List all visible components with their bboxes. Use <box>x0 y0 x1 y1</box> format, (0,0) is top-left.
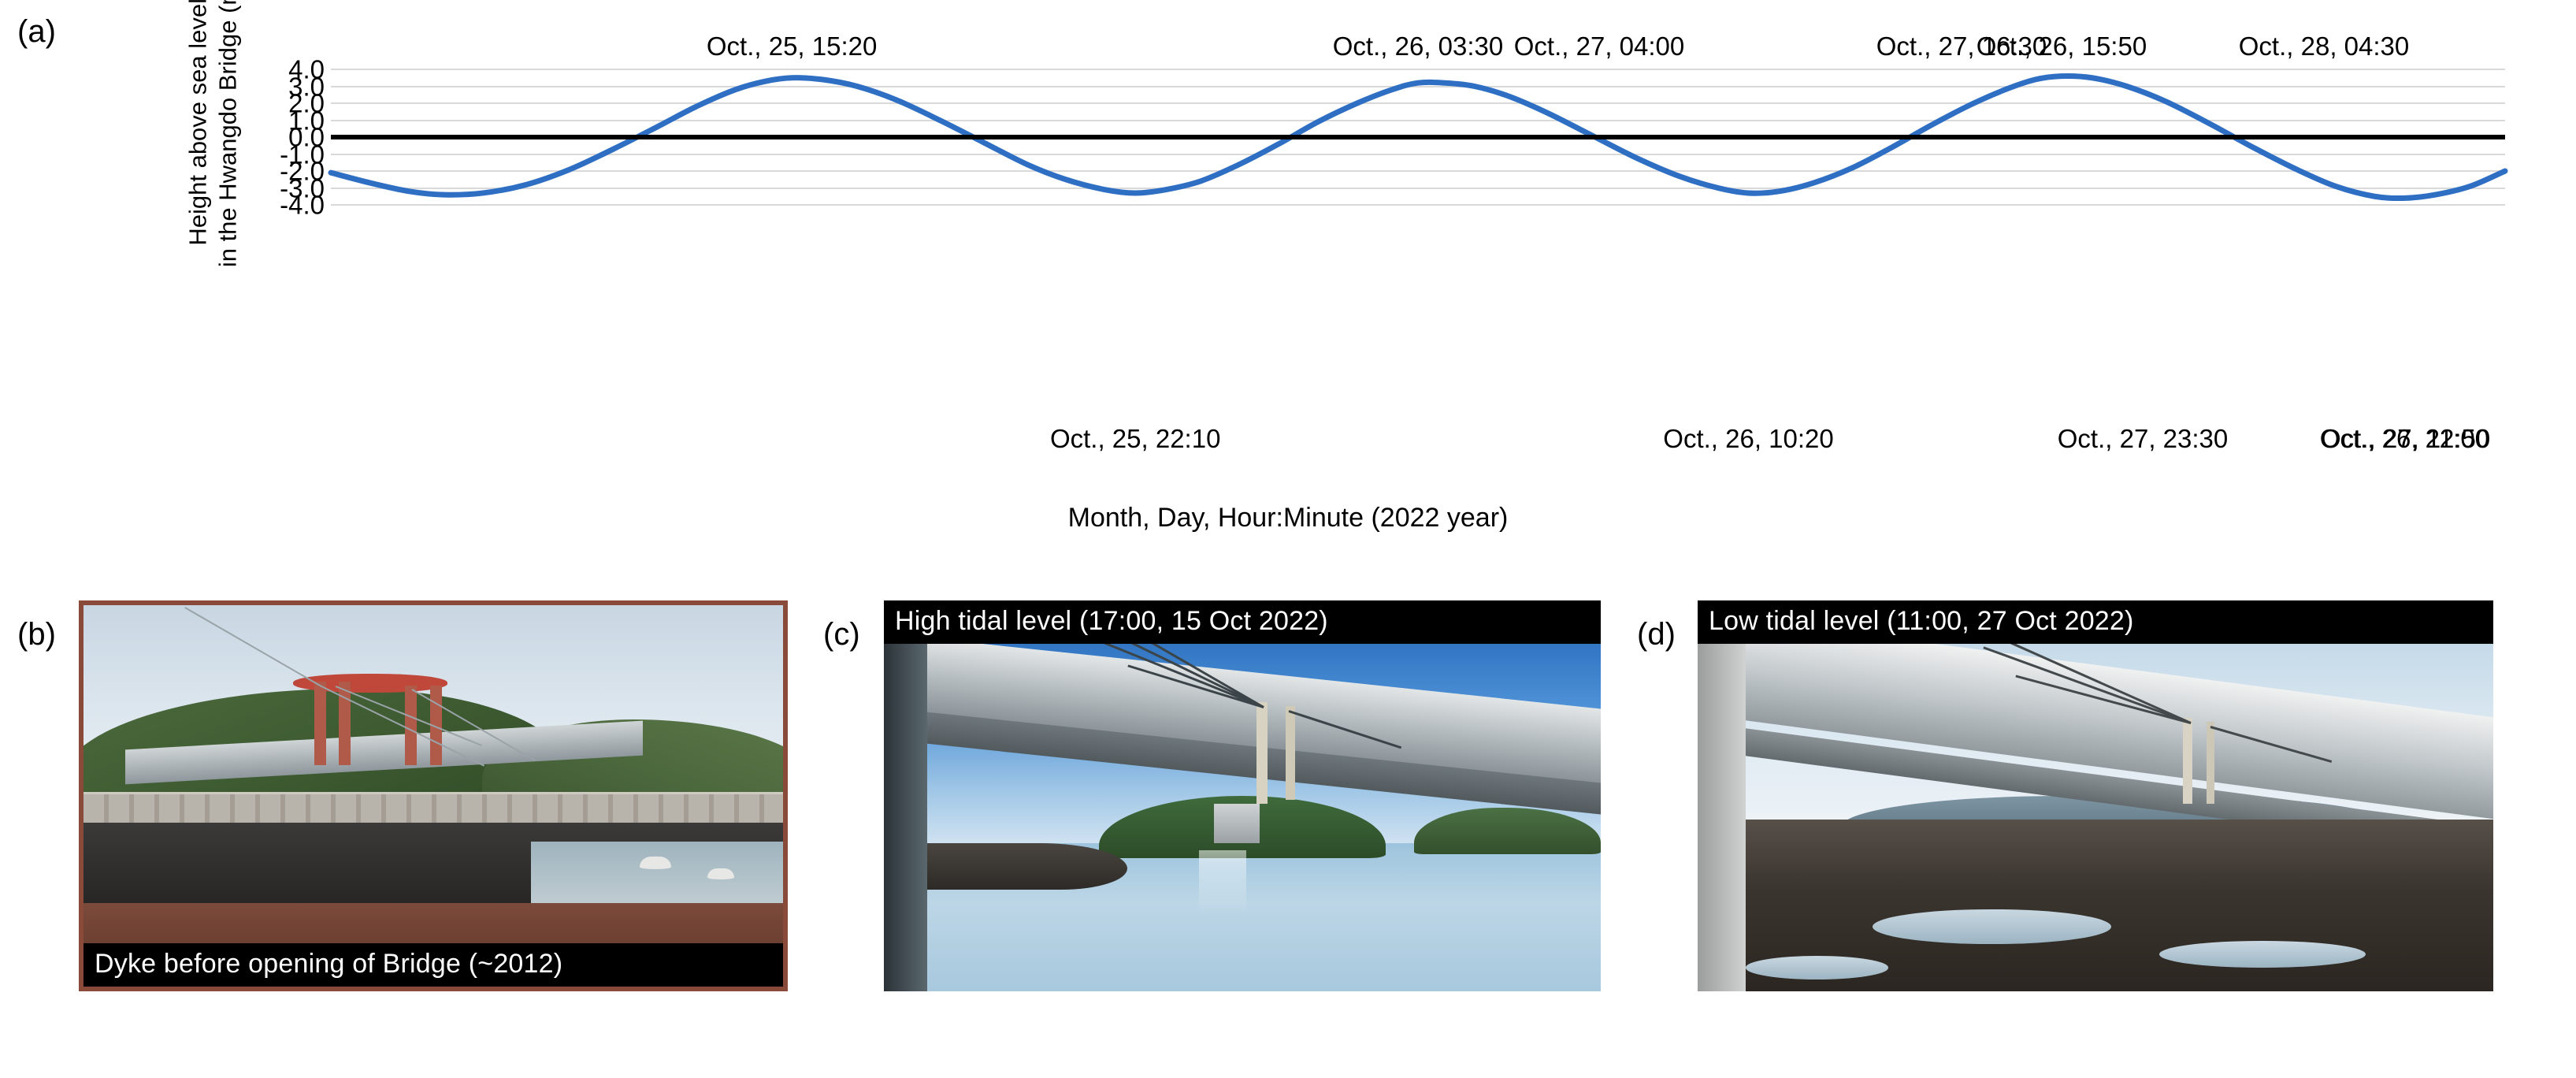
photo-d-caption: Low tidal level (11:00, 27 Oct 2022) <box>1698 600 2493 644</box>
bridge-tower <box>2183 718 2192 804</box>
bridge-column-left <box>1698 600 1746 991</box>
high-tide-photo: High tidal level (17:00, 15 Oct 2022) <box>884 600 1601 991</box>
tidal-puddle <box>1746 956 1889 979</box>
plot-area <box>331 69 2505 205</box>
dyke-photo: Dyke before opening of Bridge (~2012) <box>79 600 788 991</box>
bridge-tower <box>1256 702 1268 804</box>
photo-b-caption: Dyke before opening of Bridge (~2012) <box>84 943 783 987</box>
peak-label-4: Oct., 27, 04:00 <box>1514 33 1684 59</box>
panel-letter-d: (d) <box>1637 619 1676 650</box>
zero-level-line <box>331 135 2505 139</box>
panel-letter-c: (c) <box>823 619 860 650</box>
panel-letter-a: (a) <box>17 16 56 47</box>
pylon <box>339 682 351 765</box>
panel-a-tide-chart: (a) Height above sea level in the Hwangd… <box>0 0 2576 552</box>
x-axis-title: Month, Day, Hour:Minute (2022 year) <box>0 504 2576 531</box>
peak-label-1: Oct., 25, 15:20 <box>707 33 877 59</box>
pylon <box>405 686 417 766</box>
trough-label-5: Oct., 27, 23:30 <box>2058 426 2228 452</box>
y-axis-title-line1: Height above sea level <box>183 0 213 267</box>
boat <box>707 868 734 879</box>
trough-label-2: Oct., 26, 10:20 <box>1663 426 1833 452</box>
trough-label-1: Oct., 25, 22:10 <box>1050 426 1220 452</box>
y-axis-tick-labels: 4.03.02.01.00.0-1.0-2.0-3.0-4.0 <box>236 69 325 205</box>
peak-label-2: Oct., 26, 03:30 <box>1333 33 1503 59</box>
panel-letter-b: (b) <box>17 619 56 650</box>
bridge-tower <box>1286 706 1295 800</box>
bridge-pier <box>1214 804 1260 843</box>
tidal-puddle <box>2159 941 2366 968</box>
peak-label-6: Oct., 28, 04:30 <box>2239 33 2409 59</box>
water <box>531 842 783 910</box>
boat <box>640 857 671 869</box>
peak-label-5: Oct., 27, 16:30 <box>1876 33 2047 59</box>
figure-root: (a) Height above sea level in the Hwangd… <box>0 0 2576 1078</box>
bridge-tower <box>2207 722 2214 804</box>
trough-label-4: Oct., 27, 11:00 <box>2321 426 2489 452</box>
bridge-column-left <box>884 600 927 991</box>
water-reflection <box>1199 850 1246 913</box>
y-tick-_4_0: -4.0 <box>280 192 325 218</box>
pylon <box>314 682 326 765</box>
photo-c-caption: High tidal level (17:00, 15 Oct 2022) <box>884 600 1601 644</box>
low-tide-photo: Low tidal level (11:00, 27 Oct 2022) <box>1698 600 2493 991</box>
